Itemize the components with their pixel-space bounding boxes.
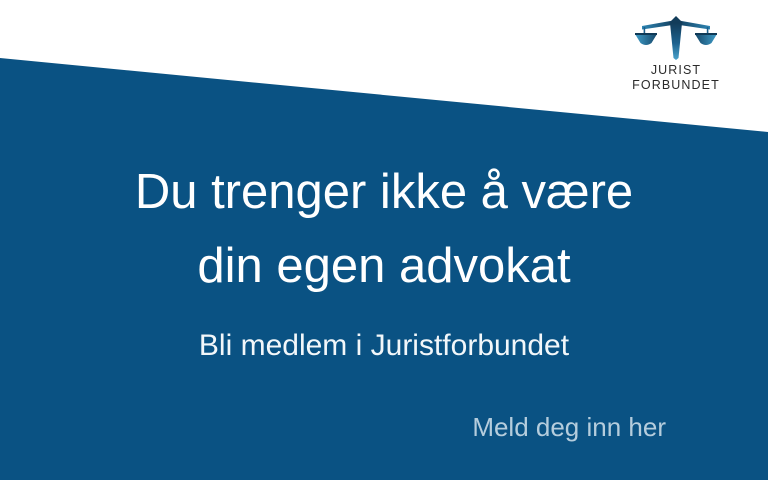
ad-banner: JURIST FORBUNDET Du trenger ikke å være … — [0, 0, 768, 480]
subheadline: Bli medlem i Juristforbundet — [0, 327, 768, 365]
headline-line-2: din egen advokat — [0, 237, 768, 295]
scales-of-justice-icon — [634, 14, 718, 60]
headline-line-1: Du trenger ikke å være — [0, 163, 768, 221]
signup-cta-link[interactable]: Meld deg inn her — [472, 411, 666, 443]
juristforbundet-logo[interactable]: JURIST FORBUNDET — [626, 14, 726, 93]
logo-word-forbundet: FORBUNDET — [626, 78, 726, 93]
logo-word-jurist: JURIST — [626, 63, 726, 78]
